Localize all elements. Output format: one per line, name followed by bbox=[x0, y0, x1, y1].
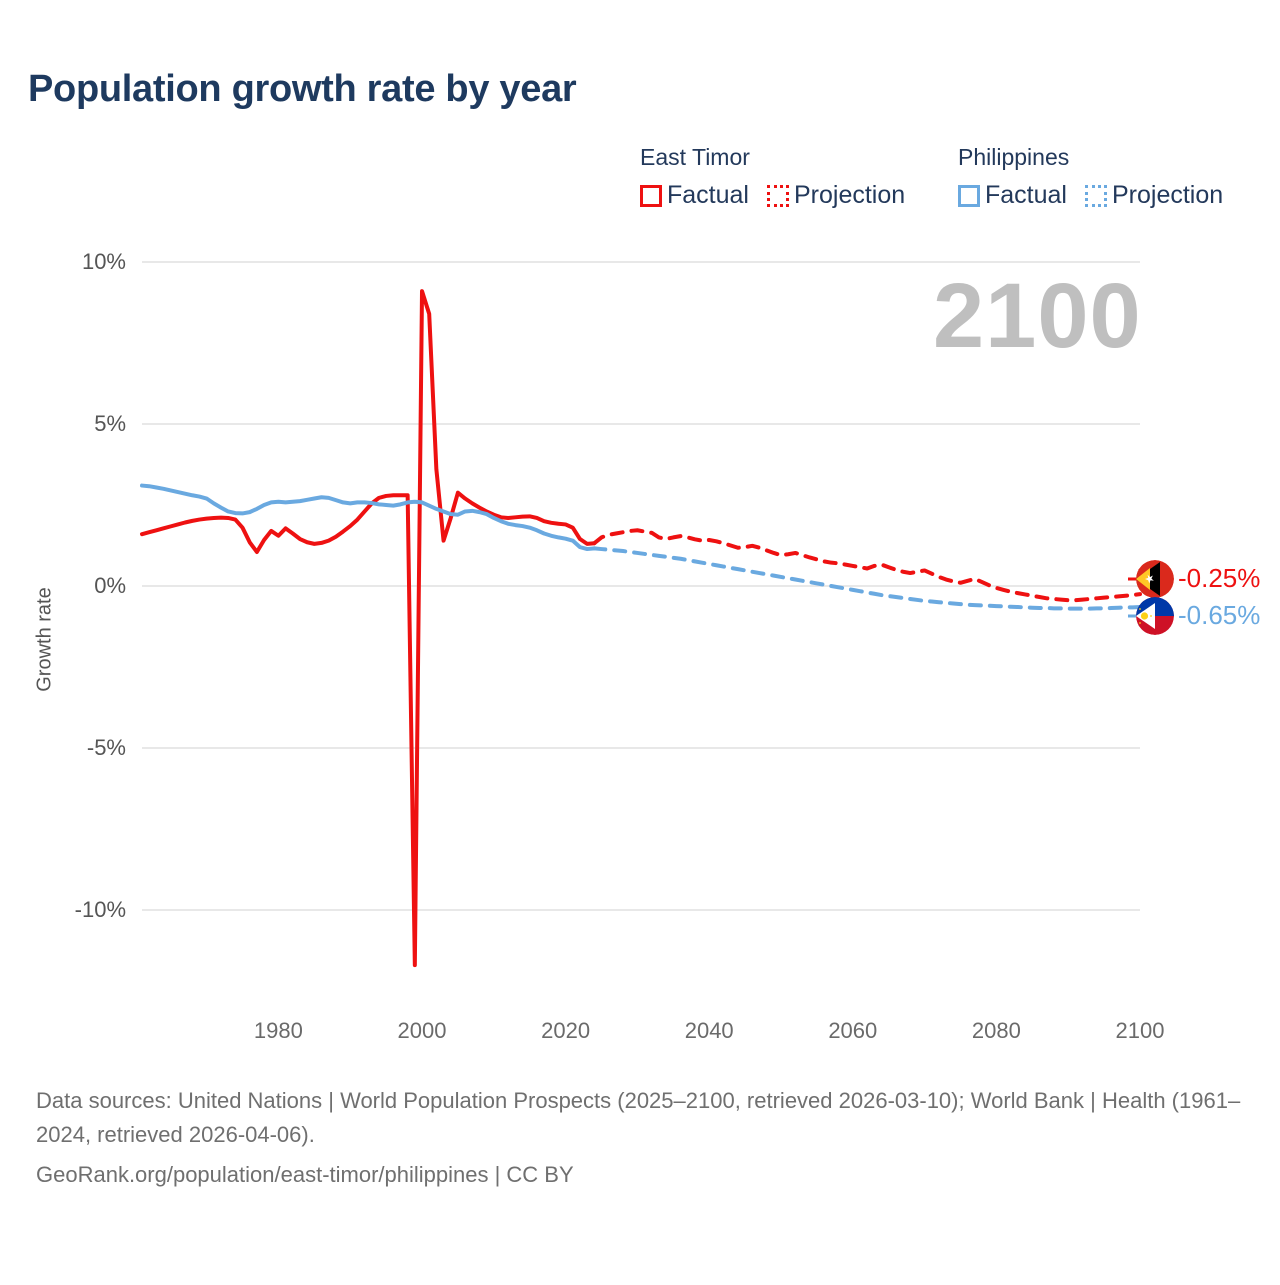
y-tick-label: -10% bbox=[36, 897, 126, 923]
east-timor-flag-icon bbox=[1136, 560, 1174, 598]
y-tick-label: 5% bbox=[36, 411, 126, 437]
philippines-flag-icon bbox=[1136, 597, 1174, 635]
series-line-east-timor-projection bbox=[594, 530, 1140, 600]
x-tick-label: 2000 bbox=[362, 1018, 482, 1044]
x-tick-label: 2080 bbox=[936, 1018, 1056, 1044]
x-tick-label: 2060 bbox=[793, 1018, 913, 1044]
y-tick-label: -5% bbox=[36, 735, 126, 761]
chart-page: Population growth rate by year East Timo… bbox=[0, 0, 1280, 1280]
footer-url[interactable]: GeoRank.org/population/east-timor/philip… bbox=[36, 1158, 1246, 1192]
series-line-east-timor-factual bbox=[142, 291, 594, 965]
x-tick-label: 1980 bbox=[218, 1018, 338, 1044]
end-label-philippines: -0.65% bbox=[1178, 600, 1260, 631]
x-tick-label: 2040 bbox=[649, 1018, 769, 1044]
y-axis-title: Growth rate bbox=[34, 560, 57, 720]
footer-data-sources: Data sources: United Nations | World Pop… bbox=[36, 1084, 1246, 1152]
x-tick-label: 2100 bbox=[1080, 1018, 1200, 1044]
x-tick-label: 2020 bbox=[506, 1018, 626, 1044]
end-label-east-timor: -0.25% bbox=[1178, 563, 1260, 594]
footer: Data sources: United Nations | World Pop… bbox=[36, 1084, 1246, 1192]
y-tick-label: 10% bbox=[36, 249, 126, 275]
